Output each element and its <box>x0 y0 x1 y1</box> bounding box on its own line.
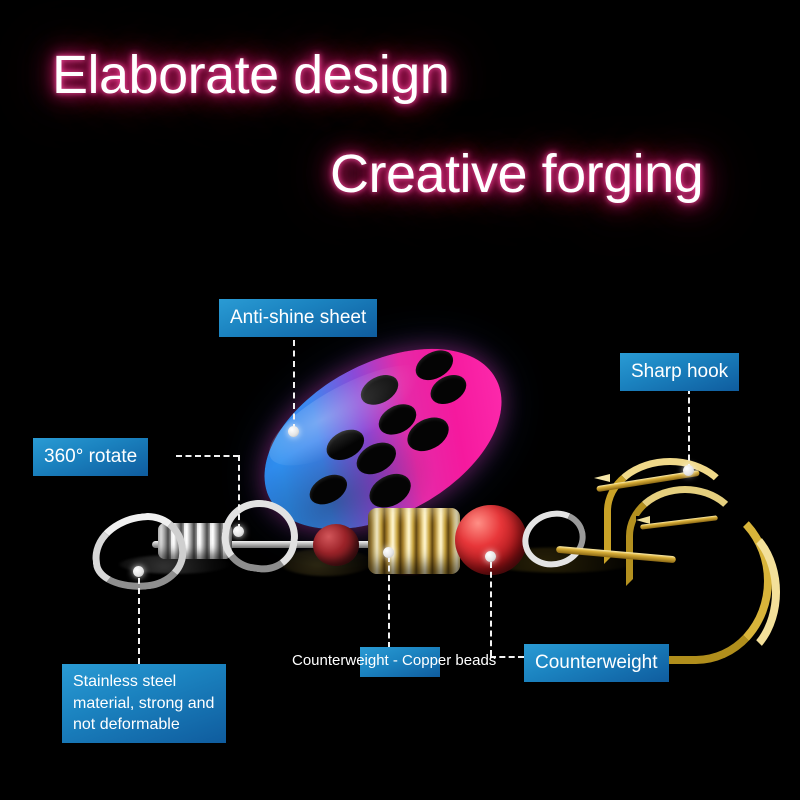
callout-stainless-steel[interactable]: Stainless steel material, strong and not… <box>62 664 226 743</box>
leader-sharp-hook <box>688 388 690 470</box>
leader-rotate-horizontal <box>176 455 239 457</box>
headline-secondary: Creative forging <box>330 143 703 205</box>
leader-anti-shine <box>293 340 295 430</box>
callout-anti-shine-sheet[interactable]: Anti-shine sheet <box>219 299 377 337</box>
hook-link-wire <box>515 502 593 575</box>
headline-primary: Elaborate design <box>52 44 449 106</box>
leader-dot-copper-beads <box>383 547 394 558</box>
callout-copper-beads[interactable]: Counterweight - Copper beads <box>360 647 440 677</box>
callout-sharp-hook[interactable]: Sharp hook <box>620 353 739 391</box>
leader-dot-sharp-hook <box>683 465 694 476</box>
leader-stainless <box>138 578 140 664</box>
brass-counterweight <box>368 508 460 574</box>
leader-dot-counterweight <box>485 551 496 562</box>
callout-counterweight[interactable]: Counterweight <box>524 644 669 682</box>
promo-image: Elaborate design Creative forging <box>0 0 800 800</box>
copper-bead <box>313 524 359 566</box>
leader-dot-rotate <box>233 526 244 537</box>
leader-dot-stainless <box>133 566 144 577</box>
leader-rotate-vertical <box>238 455 240 530</box>
leader-copper-beads <box>388 556 390 648</box>
leader-dot-anti-shine <box>288 426 299 437</box>
callout-copper-beads-label: Counterweight - Copper beads <box>292 652 496 669</box>
leader-counterweight-vertical <box>490 562 492 656</box>
callout-360-rotate[interactable]: 360° rotate <box>33 438 148 476</box>
